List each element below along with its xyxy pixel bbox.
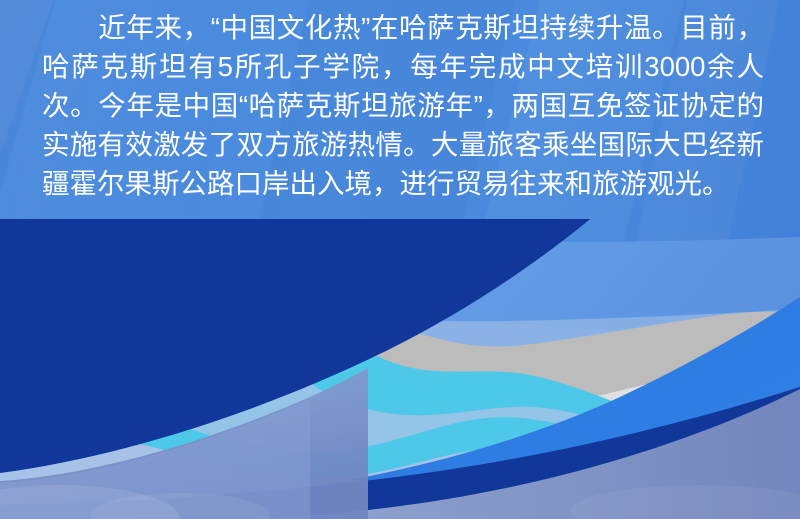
decorative-text-card: 近年来，“中国文化热”在哈萨克斯坦持续升温。目前，哈萨克斯坦有5所孔子学院，每年…: [0, 0, 800, 519]
body-paragraph: 近年来，“中国文化热”在哈萨克斯坦持续升温。目前，哈萨克斯坦有5所孔子学院，每年…: [42, 8, 764, 203]
layered-mountain-wave-graphic: [0, 219, 800, 519]
